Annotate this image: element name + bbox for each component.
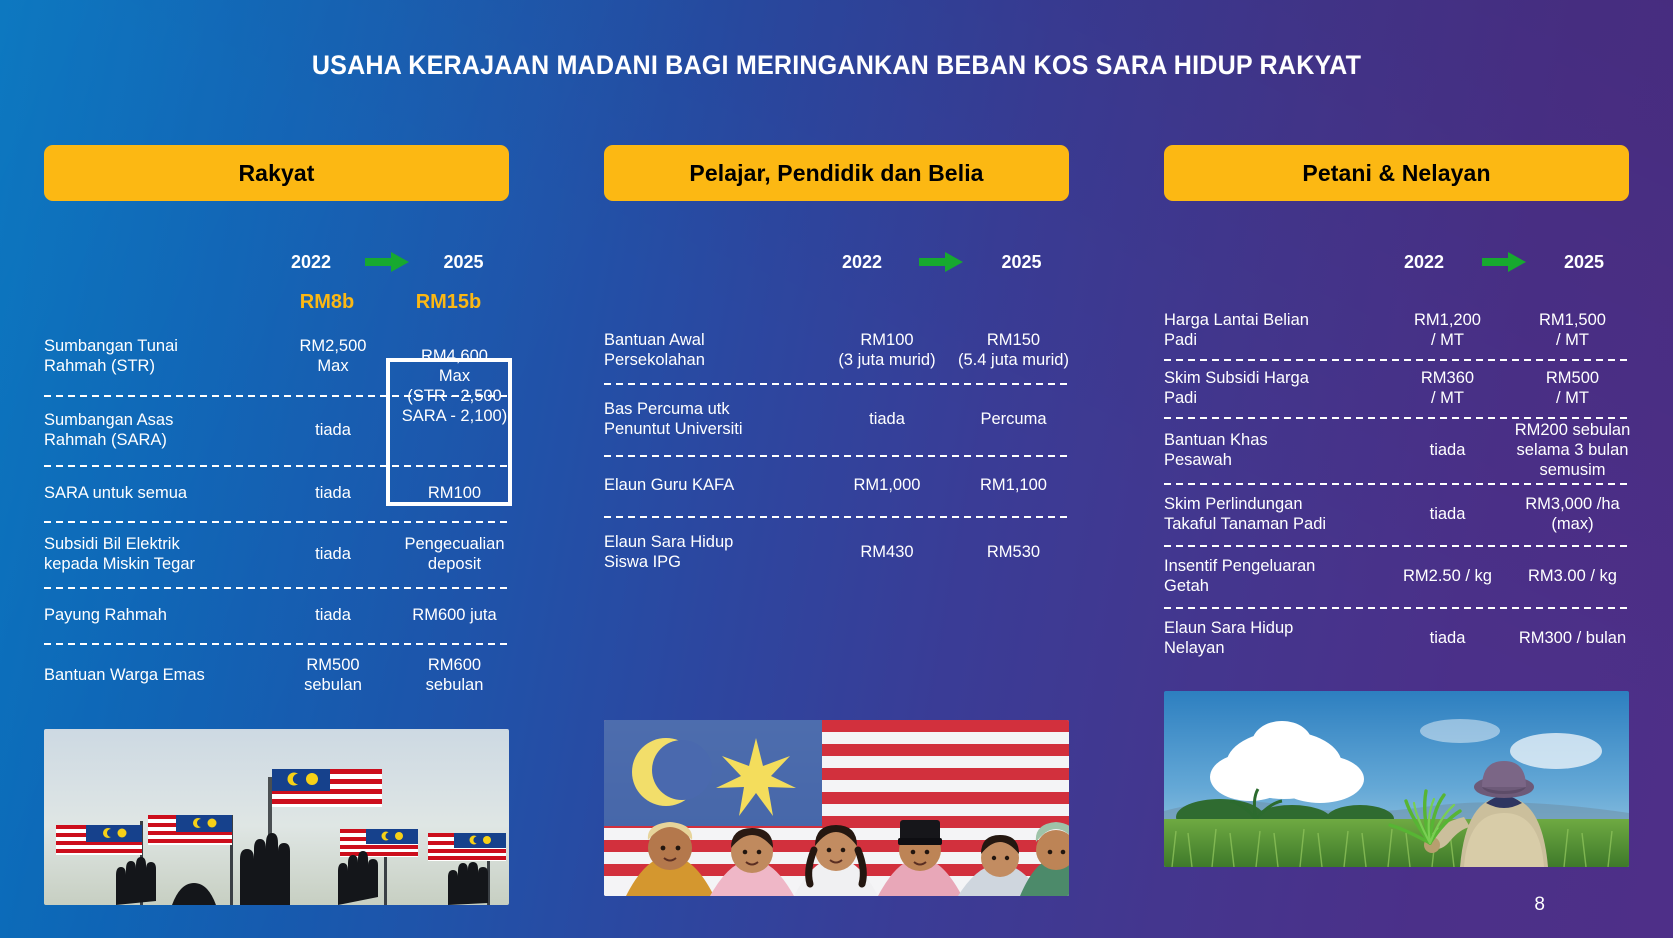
row-label: SARA untuk semua bbox=[44, 483, 272, 503]
row-value-2025: RM1,100 bbox=[952, 475, 1075, 495]
table-row: Payung Rahmah tiada RM600 juta bbox=[44, 587, 509, 643]
row-value-2022: RM100(3 juta murid) bbox=[822, 330, 952, 370]
table-rakyat: Sumbangan TunaiRahmah (STR) RM2,500Max R… bbox=[44, 317, 509, 707]
row-value-2025: RM300 / bulan bbox=[1510, 628, 1635, 648]
row-value-2025: RM600sebulan bbox=[394, 655, 515, 695]
columns-container: Rakyat 2022 2025 RM8b RM15b bbox=[44, 145, 1629, 905]
column-header-rakyat: Rakyat bbox=[44, 145, 509, 201]
row-label: Bas Percuma utkPenuntut Universiti bbox=[604, 399, 822, 439]
photo-rakyat bbox=[44, 729, 509, 905]
row-value-2025: Percuma bbox=[952, 409, 1075, 429]
table-petani: Harga Lantai BelianPadi RM1,200/ MT RM1,… bbox=[1164, 301, 1629, 669]
row-label: Skim PerlindunganTakaful Tanaman Padi bbox=[1164, 494, 1385, 534]
row-value-2022: tiada bbox=[1385, 504, 1510, 524]
row-value-2025: RM530 bbox=[952, 542, 1075, 562]
table-row: Skim PerlindunganTakaful Tanaman Padi ti… bbox=[1164, 483, 1629, 545]
page-title: USAHA KERAJAAN MADANI BAGI MERINGANKAN B… bbox=[59, 50, 1615, 81]
year-row-pelajar: 2022 2025 bbox=[604, 245, 1069, 279]
row-value-2025: RM100 bbox=[394, 483, 515, 503]
row-value-2022: tiada bbox=[1385, 440, 1510, 460]
row-value-2022: tiada bbox=[1385, 628, 1510, 648]
table-row: Harga Lantai BelianPadi RM1,200/ MT RM1,… bbox=[1164, 301, 1629, 359]
table-row: Bantuan AwalPersekolahan RM100(3 juta mu… bbox=[604, 317, 1069, 383]
row-value-2025: RM3.00 / kg bbox=[1510, 566, 1635, 586]
photo-petani bbox=[1164, 691, 1629, 867]
year-label-2025: 2025 bbox=[1539, 252, 1629, 273]
row-value-2022: RM2.50 / kg bbox=[1385, 566, 1510, 586]
table-row: Elaun Guru KAFA RM1,000 RM1,100 bbox=[604, 455, 1069, 516]
year-label-2025: 2025 bbox=[974, 252, 1069, 273]
row-value-2022: tiada bbox=[272, 420, 394, 440]
table-row: Subsidi Bil Elektrikkepada Miskin Tegar … bbox=[44, 521, 509, 587]
row-label: Payung Rahmah bbox=[44, 605, 272, 625]
row-value-2025: RM200 sebulanselama 3 bulansemusim bbox=[1510, 420, 1635, 480]
table-row: Bantuan Warga Emas RM500sebulan RM600seb… bbox=[44, 643, 509, 707]
row-value-2022: RM2,500Max bbox=[272, 336, 394, 376]
row-label: Bantuan KhasPesawah bbox=[1164, 430, 1385, 470]
row-label: Bantuan Warga Emas bbox=[44, 665, 272, 685]
row-label: Elaun Sara HidupSiswa IPG bbox=[604, 532, 822, 572]
arrow-right-icon bbox=[1469, 252, 1539, 272]
row-value-2025: RM3,000 /ha(max) bbox=[1510, 494, 1635, 534]
table-row: Elaun Sara HidupSiswa IPG RM430 RM530 bbox=[604, 516, 1069, 588]
arrow-right-icon bbox=[908, 252, 974, 272]
row-value-2022: RM500sebulan bbox=[272, 655, 394, 695]
year-row-rakyat: 2022 2025 bbox=[44, 245, 509, 279]
row-value-2022: RM1,000 bbox=[822, 475, 952, 495]
row-value-2022: tiada bbox=[272, 605, 394, 625]
year-row-petani: 2022 2025 bbox=[1164, 245, 1629, 279]
table-row: Skim Subsidi HargaPadi RM360/ MT RM500/ … bbox=[1164, 359, 1629, 417]
arrow-right-icon bbox=[356, 252, 418, 272]
row-label: Harga Lantai BelianPadi bbox=[1164, 310, 1385, 350]
row-value-2022: RM360/ MT bbox=[1385, 368, 1510, 408]
year-label-2022: 2022 bbox=[266, 252, 356, 273]
column-pelajar: Pelajar, Pendidik dan Belia 2022 2025 Ba… bbox=[604, 145, 1069, 905]
row-value-2025: RM4,600Max(STR - 2,500SARA - 2,100) bbox=[394, 286, 515, 427]
row-value-2022: RM1,200/ MT bbox=[1385, 310, 1510, 350]
table-row: Bantuan KhasPesawah tiada RM200 sebulans… bbox=[1164, 417, 1629, 483]
table-row: Elaun Sara HidupNelayan tiada RM300 / bu… bbox=[1164, 607, 1629, 669]
table-row: Insentif PengeluaranGetah RM2.50 / kg RM… bbox=[1164, 545, 1629, 607]
row-label: Elaun Guru KAFA bbox=[604, 475, 822, 495]
table-row: SARA untuk semua tiada RM100 bbox=[44, 465, 509, 521]
page-number: 8 bbox=[1534, 894, 1545, 916]
row-value-2025: Pengecualiandeposit bbox=[394, 534, 515, 574]
row-label: Bantuan AwalPersekolahan bbox=[604, 330, 822, 370]
year-label-2022: 2022 bbox=[1379, 252, 1469, 273]
photo-pelajar bbox=[604, 720, 1069, 896]
row-label: Elaun Sara HidupNelayan bbox=[1164, 618, 1385, 658]
table-pelajar: Bantuan AwalPersekolahan RM100(3 juta mu… bbox=[604, 317, 1069, 588]
table-row: Sumbangan TunaiRahmah (STR) RM2,500Max R… bbox=[44, 317, 509, 395]
row-label: Sumbangan AsasRahmah (SARA) bbox=[44, 410, 272, 450]
slide-canvas: USAHA KERAJAAN MADANI BAGI MERINGANKAN B… bbox=[0, 0, 1673, 938]
budget-total-2022: RM8b bbox=[266, 291, 388, 314]
year-label-2022: 2022 bbox=[816, 252, 908, 273]
row-value-2022: tiada bbox=[272, 483, 394, 503]
row-value-2025: RM1,500/ MT bbox=[1510, 310, 1635, 350]
row-value-2025: RM600 juta bbox=[394, 605, 515, 625]
column-header-pelajar: Pelajar, Pendidik dan Belia bbox=[604, 145, 1069, 201]
row-value-2025: RM500/ MT bbox=[1510, 368, 1635, 408]
row-value-2025: RM150(5.4 juta murid) bbox=[952, 330, 1075, 370]
row-label: Skim Subsidi HargaPadi bbox=[1164, 368, 1385, 408]
row-value-2022: RM430 bbox=[822, 542, 952, 562]
year-label-2025: 2025 bbox=[418, 252, 509, 273]
column-header-petani: Petani & Nelayan bbox=[1164, 145, 1629, 201]
row-value-2022: tiada bbox=[822, 409, 952, 429]
table-row: Bas Percuma utkPenuntut Universiti tiada… bbox=[604, 383, 1069, 455]
row-label: Subsidi Bil Elektrikkepada Miskin Tegar bbox=[44, 534, 272, 574]
row-label: Insentif PengeluaranGetah bbox=[1164, 556, 1385, 596]
column-rakyat: Rakyat 2022 2025 RM8b RM15b bbox=[44, 145, 509, 905]
column-petani: Petani & Nelayan 2022 2025 Harga Lantai … bbox=[1164, 145, 1629, 905]
row-label: Sumbangan TunaiRahmah (STR) bbox=[44, 336, 272, 376]
row-value-2022: tiada bbox=[272, 544, 394, 564]
